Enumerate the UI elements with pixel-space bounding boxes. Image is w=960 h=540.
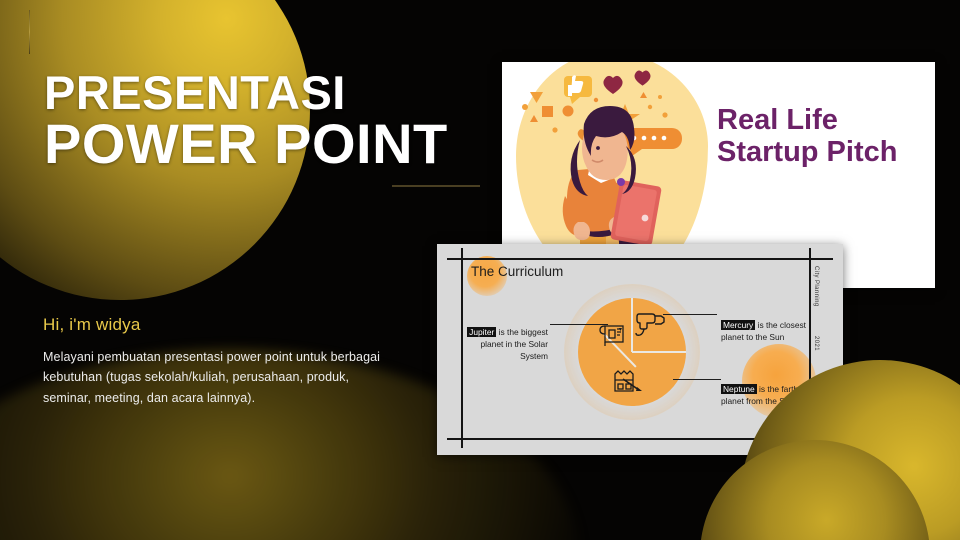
intro-body: Melayani pembuatan presentasi power poin… [43,347,383,408]
caption-neptune-keyword: Neptune [721,384,757,394]
drill-icon [633,306,667,340]
hero-title-line1: PRESENTASI [44,70,484,115]
presentation-banner: PRESENTASI POWER POINT Hi, i'm widya Mel… [0,0,960,540]
horizontal-accent-line [392,185,480,187]
leader-line-mercury [663,314,717,315]
side-label-city-planning: City Planning [813,266,819,307]
slide1-title: Real Life Startup Pitch [717,104,932,169]
caption-mercury: Mercury is the closest planet to the Sun [721,320,821,344]
hero-title-line2: POWER POINT [44,117,484,171]
vertical-accent-line [29,10,30,54]
leader-line-jupiter [550,324,608,325]
side-label-year: 2021 [813,336,819,351]
slide2-rule-top [447,258,833,260]
intro-block: Hi, i'm widya Melayani pembuatan present… [43,315,383,408]
caption-jupiter: Jupiter is the biggest planet in the Sol… [453,327,548,363]
intro-heading: Hi, i'm widya [43,315,383,335]
caption-jupiter-keyword: Jupiter [467,327,496,337]
pie-divider-2 [632,351,686,353]
slide2-title: The Curriculum [471,264,563,279]
caption-mercury-keyword: Mercury [721,320,755,330]
hero-title: PRESENTASI POWER POINT [44,70,484,171]
construction-icon [611,366,643,398]
leader-line-neptune [673,379,721,380]
